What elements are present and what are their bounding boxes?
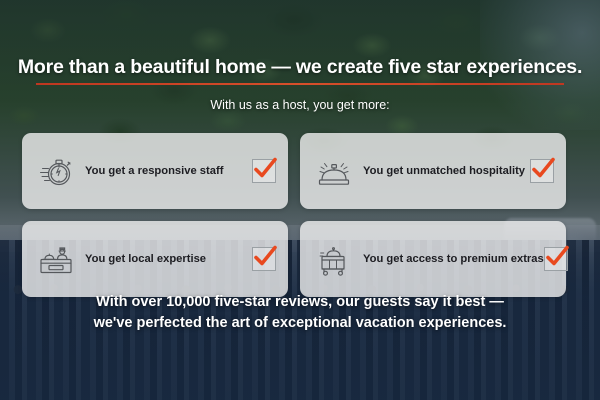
checkbox-responsive-staff[interactable] <box>252 159 276 183</box>
title-underline-rule <box>36 83 564 85</box>
page-subtitle: With us as a host, you get more: <box>0 98 600 112</box>
card-row-2: You get local expertise <box>22 221 600 297</box>
benefit-card-label: You get a responsive staff <box>76 165 252 177</box>
footer-line2: we've perfected the art of exceptional v… <box>0 313 600 334</box>
room-service-cart-icon <box>314 239 354 279</box>
card-row-1: You get a responsive staff <box>22 133 600 209</box>
service-bell-icon <box>314 151 354 191</box>
page-title: More than a beautiful home — we create f… <box>0 56 600 79</box>
benefit-cards: You get a responsive staff <box>22 133 600 309</box>
checkmark-icon <box>542 242 572 272</box>
checkmark-icon <box>528 154 558 184</box>
footer-line1-post: five-star reviews, our guests say it bes… <box>210 294 503 310</box>
benefit-card-unmatched-hospitality[interactable]: You get unmatched hospitality <box>300 133 566 209</box>
benefit-card-local-expertise[interactable]: You get local expertise <box>22 221 288 297</box>
benefit-card-label: You get unmatched hospitality <box>354 165 530 177</box>
footer-review-count: 10,000 <box>166 294 210 310</box>
checkmark-icon <box>250 242 280 272</box>
stopwatch-icon <box>36 151 76 191</box>
footer-statement: With over 10,000 five-star reviews, our … <box>0 292 600 334</box>
benefit-card-label: You get access to premium extras <box>354 253 544 265</box>
checkmark-icon <box>250 154 280 184</box>
benefit-card-responsive-staff[interactable]: You get a responsive staff <box>22 133 288 209</box>
footer-line1-pre: With over <box>96 294 166 310</box>
checkbox-premium-extras[interactable] <box>544 247 568 271</box>
checkbox-local-expertise[interactable] <box>252 247 276 271</box>
benefit-card-label: You get local expertise <box>76 253 252 265</box>
checkbox-unmatched-hospitality[interactable] <box>530 159 554 183</box>
concierge-desk-icon <box>36 239 76 279</box>
benefit-card-premium-extras[interactable]: You get access to premium extras <box>300 221 566 297</box>
